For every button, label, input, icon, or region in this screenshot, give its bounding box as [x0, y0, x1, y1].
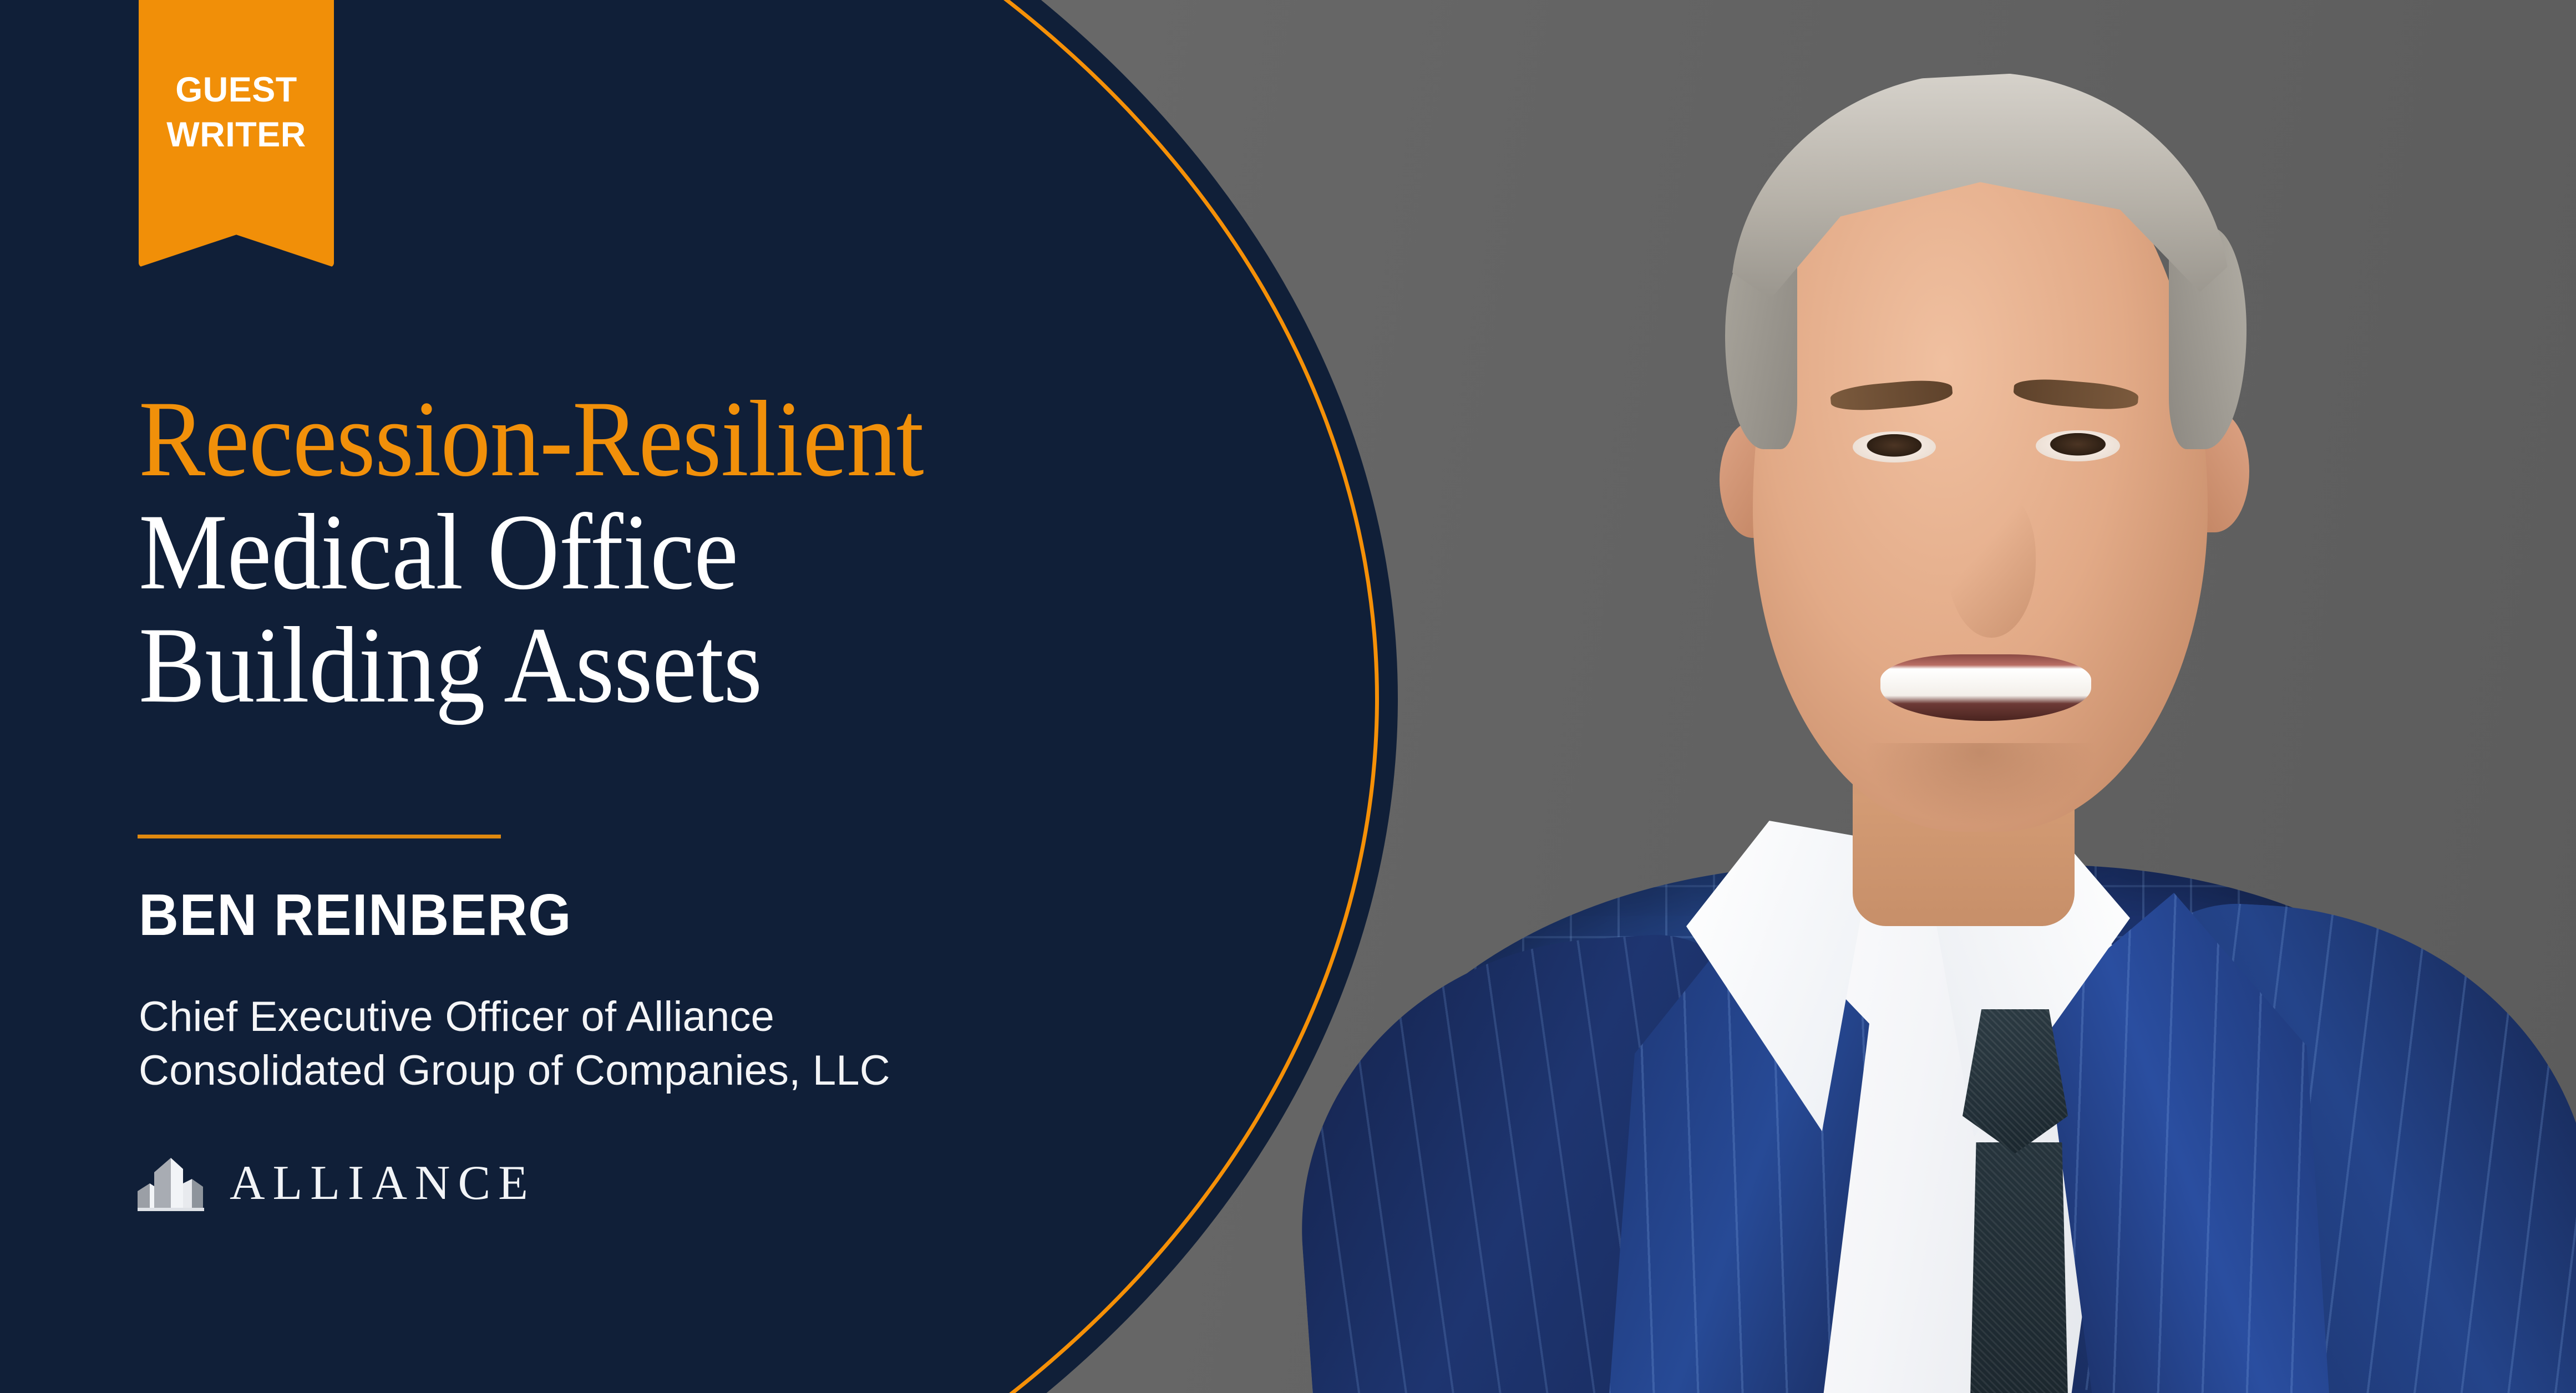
left-content: GUEST WRITER Recession-Resilient Medical… [0, 0, 1403, 1393]
smiling-mouth [1880, 654, 2091, 721]
headline-accent-line: Recession-Resilient [139, 383, 1185, 496]
ribbon-label-line2: WRITER [166, 113, 306, 157]
necktie-body [1970, 1142, 2068, 1393]
headline-line-2: Medical Office [139, 496, 1185, 609]
alliance-logo: ALLIANCE [138, 1152, 536, 1214]
author-role: Chief Executive Officer of Alliance Cons… [139, 990, 1137, 1098]
author-name: BEN REINBERG [139, 882, 572, 949]
nose [1947, 488, 2036, 638]
headline-line-3: Building Assets [139, 609, 1185, 722]
portrait-subject [1265, 0, 2576, 1393]
eye-left [1853, 431, 1936, 462]
author-role-line-2: Consolidated Group of Companies, LLC [139, 1044, 1137, 1097]
banner-canvas: GUEST WRITER Recession-Resilient Medical… [0, 0, 2576, 1393]
eye-right [2036, 430, 2120, 461]
orange-divider-rule [138, 835, 501, 838]
ribbon-label-line1: GUEST [175, 68, 297, 113]
author-role-line-1: Chief Executive Officer of Alliance [139, 990, 1137, 1044]
chin-shadow [1864, 743, 2097, 826]
building-icon [138, 1152, 211, 1214]
guest-writer-ribbon: GUEST WRITER [139, 0, 334, 267]
alliance-wordmark: ALLIANCE [230, 1159, 536, 1208]
page-title: Recession-Resilient Medical Office Build… [139, 383, 1276, 721]
